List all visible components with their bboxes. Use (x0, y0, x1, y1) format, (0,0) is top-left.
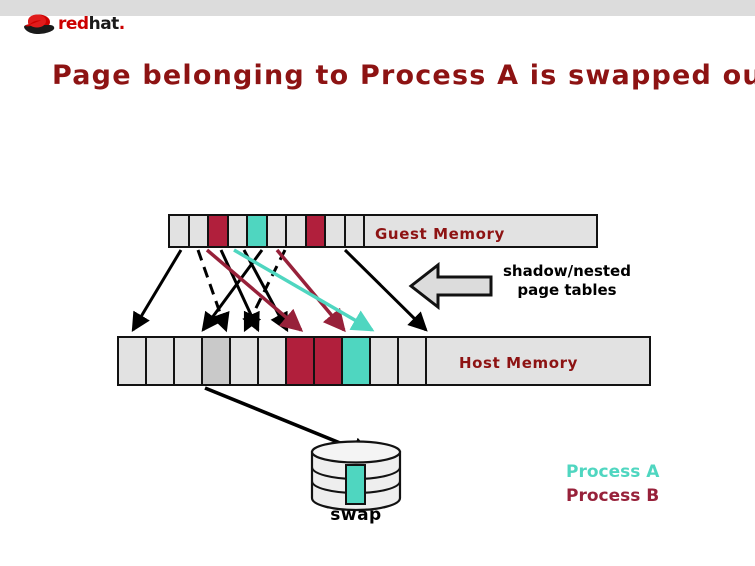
disk-cylinder-icon (308, 440, 404, 512)
host-memory-cell-0 (119, 338, 147, 384)
guest-memory-cell-3 (229, 216, 249, 246)
page-title: Page belonging to Process A is swapped o… (52, 60, 755, 91)
host-memory-cell-9 (371, 338, 399, 384)
guest-memory-cell-1 (190, 216, 210, 246)
host-memory-label: Host Memory (459, 354, 578, 372)
guest-memory-bar: Guest Memory (168, 214, 598, 248)
swap-page-block (346, 465, 365, 504)
arrow-guest7-host7 (277, 250, 344, 330)
host-memory-cell-4 (231, 338, 259, 384)
host-memory-cell-3 (203, 338, 231, 384)
guest-memory-cell-6 (287, 216, 307, 246)
legend-process-b: Process B (566, 484, 659, 508)
page-tables-caption: shadow/nested page tables (503, 262, 631, 300)
guest-memory-cell-5 (268, 216, 288, 246)
arrow-guest1-host3-dashed (198, 250, 226, 330)
host-memory-cell-10 (399, 338, 427, 384)
host-memory-cell-7 (315, 338, 343, 384)
arrow-guest2-host6 (207, 250, 301, 330)
page-tables-line2: page tables (503, 281, 631, 300)
logo-red-text: red (58, 14, 89, 34)
redhat-logo: redhat. (22, 12, 132, 38)
host-memory-cell-5 (259, 338, 287, 384)
host-memory-cell-2 (175, 338, 203, 384)
arrow-guest0-host0 (133, 250, 181, 330)
logo-hat-text: hat (89, 14, 119, 34)
legend-process-a: Process A (566, 460, 659, 484)
logo-dot: . (119, 14, 125, 34)
page-tables-line1: shadow/nested (503, 262, 631, 281)
arrow-guest5-host1 (203, 250, 262, 330)
guest-memory-cell-2 (209, 216, 229, 246)
arrow-guest3-host2 (221, 250, 258, 330)
legend: Process A Process B (566, 460, 659, 508)
guest-memory-cells (170, 216, 365, 246)
left-block-arrow-icon (408, 262, 494, 310)
guest-memory-cell-8 (326, 216, 346, 246)
guest-memory-cell-0 (170, 216, 190, 246)
host-memory-cell-1 (147, 338, 175, 384)
host-memory-bar: Host Memory (117, 336, 651, 386)
swap-label: swap (308, 505, 404, 525)
host-memory-cells (119, 338, 427, 384)
arrow-guest8-host5 (244, 250, 287, 330)
arrow-guest4-host8 (234, 250, 372, 330)
guest-memory-cell-7 (307, 216, 327, 246)
host-memory-cell-6 (287, 338, 315, 384)
guest-memory-cell-9 (346, 216, 366, 246)
guest-memory-cell-4 (248, 216, 268, 246)
arrow-guest6-host4-dashed (245, 250, 285, 330)
redhat-fedora-icon (22, 13, 56, 35)
redhat-wordmark: redhat. (58, 15, 125, 33)
guest-memory-label: Guest Memory (375, 225, 505, 243)
host-memory-cell-8 (343, 338, 371, 384)
